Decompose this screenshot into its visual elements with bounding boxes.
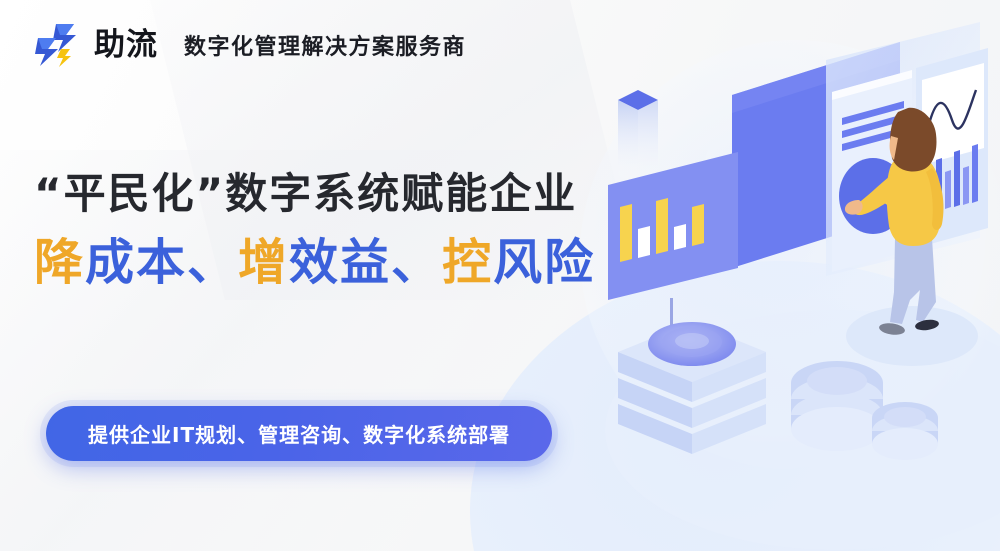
isometric-analytics-illustration	[580, 0, 1000, 551]
hero-text-block: “平民化”数字系统赋能企业 降成本、增效益、控风险	[34, 168, 595, 292]
bar-chart-panel-on-stand	[608, 152, 738, 352]
panel-bar-2	[638, 226, 650, 258]
coin-stack-large	[791, 361, 883, 451]
cta-services-button[interactable]: 提供企业IT规划、管理咨询、数字化系统部署	[46, 406, 552, 461]
floating-pillar-block	[618, 90, 658, 185]
hero-headline-secondary: 降成本、增效益、控风险	[34, 233, 595, 293]
coin-stack-small	[872, 402, 938, 460]
panel-bar-1	[620, 204, 632, 262]
panel-bar-3	[656, 198, 668, 254]
presenter-platform	[846, 306, 978, 366]
headline-segment-increase-verb: 增	[238, 234, 289, 291]
marketing-banner: 助流 数字化管理解决方案服务商 “平民化”数字系统赋能企业 降成本、增效益、控风…	[0, 0, 1000, 551]
headline-segment-benefit: 效益、	[289, 234, 442, 291]
headline-segment-control-verb: 控	[442, 234, 493, 291]
hero-headline-primary-text: “平民化”数字系统赋能企业	[34, 169, 577, 218]
hero-headline-primary: “平民化”数字系统赋能企业	[34, 168, 577, 221]
headline-segment-reduce-cost-verb: 降	[34, 234, 85, 291]
brand-tagline: 数字化管理解决方案服务商	[184, 29, 466, 61]
lightning-bolt-logo-icon[interactable]	[30, 22, 80, 68]
headline-segment-cost: 成本、	[85, 234, 238, 291]
brand-name: 助流	[94, 30, 158, 61]
brand-header: 助流 数字化管理解决方案服务商	[30, 22, 466, 68]
panel-bar-4	[674, 224, 686, 250]
panel-bar-5	[692, 204, 704, 246]
